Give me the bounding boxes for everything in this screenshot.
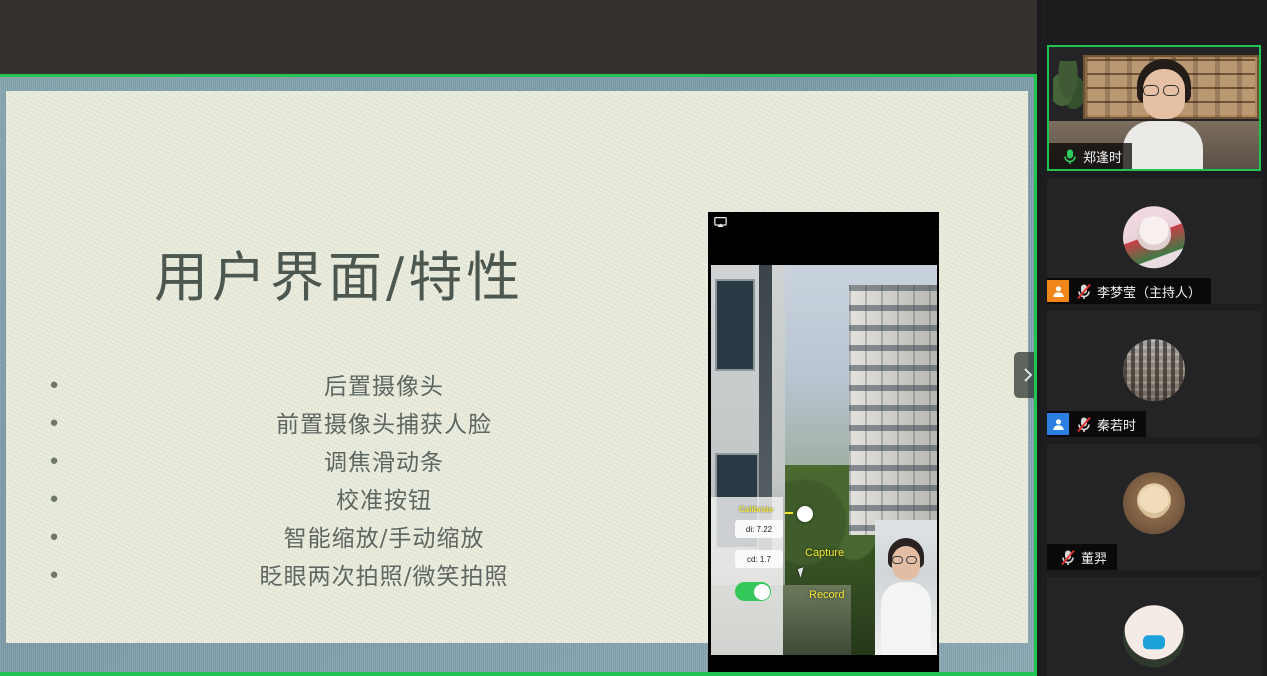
shared-screen-backdrop [0, 0, 1037, 74]
mic-muted-icon [1060, 549, 1076, 566]
participant-tile[interactable]: 董羿 [1047, 444, 1261, 570]
participant-name-bar: 李梦莹（主持人） [1047, 278, 1211, 304]
participant-name: 董羿 [1081, 548, 1107, 567]
participant-tile[interactable] [1047, 577, 1261, 676]
mic-muted-icon [1076, 416, 1092, 433]
host-badge-icon [1047, 280, 1069, 302]
person-icon [1052, 418, 1065, 431]
screen-share-indicator-border [0, 74, 1037, 676]
participant-tile[interactable]: 郑逢时 [1047, 45, 1261, 171]
avatar [1123, 605, 1185, 667]
meeting-window: 用户界面/特性 ● 后置摄像头 ● 前置摄像头捕获人脸 ● 调焦滑动条 [0, 0, 1267, 676]
airplay-icon[interactable] [714, 217, 727, 228]
participant-name: 秦若时 [1097, 415, 1136, 434]
participant-panel: 郑逢时 李梦莹（主持人） [1041, 0, 1267, 676]
mic-muted-icon [1076, 283, 1092, 300]
participant-name-bar: 秦若时 [1047, 411, 1146, 437]
glasses-left [1143, 85, 1159, 96]
participant-name: 郑逢时 [1083, 147, 1122, 166]
participant-tile[interactable]: 秦若时 [1047, 311, 1261, 437]
avatar [1123, 472, 1185, 534]
torso [1123, 121, 1203, 171]
badge-spacer [1047, 546, 1055, 568]
shared-screen-region: 用户界面/特性 ● 后置摄像头 ● 前置摄像头捕获人脸 ● 调焦滑动条 [0, 0, 1037, 676]
badge-spacer [1049, 145, 1057, 167]
glasses-right [1163, 85, 1179, 96]
participant-name: 李梦莹（主持人） [1097, 282, 1201, 301]
avatar [1123, 339, 1185, 401]
plant [1053, 61, 1083, 113]
participant-name-bar: 董羿 [1047, 544, 1117, 570]
participant-name-bar: 郑逢时 [1049, 143, 1132, 169]
avatar [1123, 206, 1185, 268]
mic-on-icon [1062, 148, 1078, 165]
screen-share-indicator-bottom [0, 672, 1037, 676]
participant-tile[interactable]: 李梦莹（主持人） [1047, 178, 1261, 304]
cohost-badge-icon [1047, 413, 1069, 435]
person-icon [1052, 285, 1065, 298]
